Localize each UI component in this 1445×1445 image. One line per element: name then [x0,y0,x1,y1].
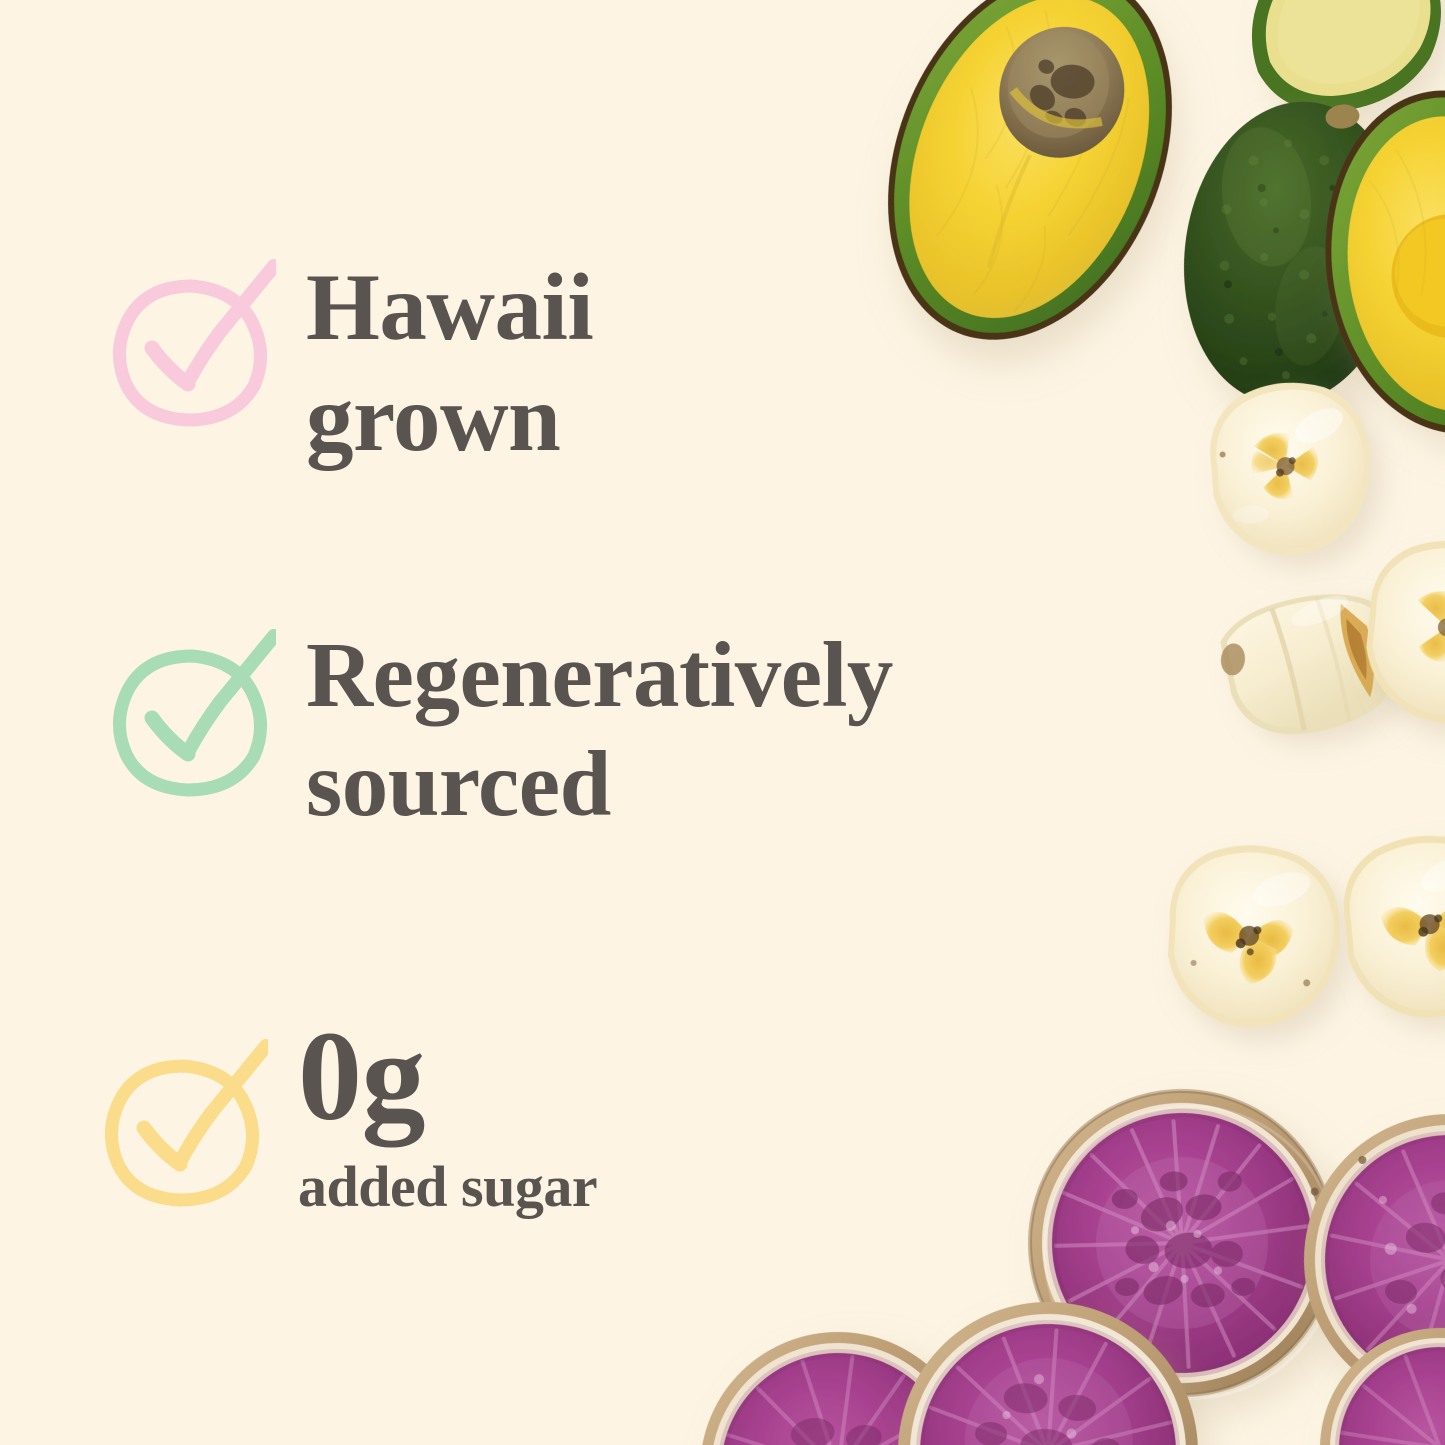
benefit-line-1: Hawaii [306,252,593,363]
banana-slice-partial-right [1359,533,1445,731]
benefit-line-2: grown [306,363,593,474]
benefit-line-2: sourced [306,731,893,840]
check-circle-icon [100,1036,268,1216]
benefit-line-1: Regeneratively [306,622,893,731]
avocado-half-top-right [1252,0,1441,112]
benefit-text-hawaii-grown: Hawaii grown [306,252,593,474]
benefit-line-1: 0g [298,1012,597,1140]
check-circle-icon [108,256,276,436]
benefit-item-regeneratively-sourced: Regeneratively sourced [108,622,893,840]
benefit-item-hawaii-grown: Hawaii grown [108,252,593,474]
purple-sweet-potato-slice-bottom-right [1301,1309,1445,1445]
benefits-list: Hawaii grown Regeneratively sourced [0,0,1250,1445]
product-benefits-graphic: Hawaii grown Regeneratively sourced [0,0,1445,1445]
banana-slice-round-lower-right [1338,828,1445,1024]
benefit-subline: added sugar [298,1154,597,1221]
benefit-text-zero-added-sugar: 0g added sugar [298,1012,597,1221]
benefit-item-zero-added-sugar: 0g added sugar [100,1012,597,1221]
avocado-half-right-edge [1309,78,1445,446]
check-circle-icon [108,626,276,806]
benefit-text-regeneratively-sourced: Regeneratively sourced [306,622,893,840]
purple-sweet-potato-slice-right [1292,1102,1445,1418]
